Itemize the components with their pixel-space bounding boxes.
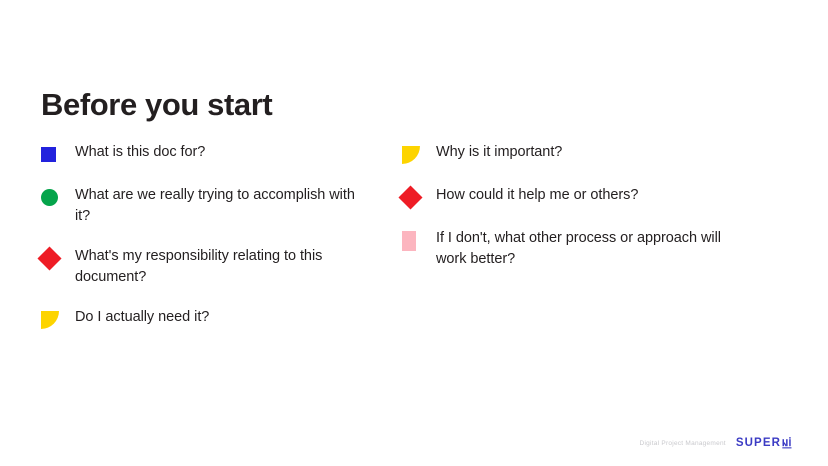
quarter-circle-yellow-icon — [41, 309, 75, 331]
list-item-label: What's my responsibility relating to thi… — [75, 246, 371, 288]
bullet-column-right: Why is it important? How could it help m… — [402, 142, 742, 289]
slide-canvas: Before you start What is this doc for? W… — [0, 0, 828, 466]
list-item: Do I actually need it? — [41, 307, 371, 331]
list-item-label: How could it help me or others? — [436, 185, 638, 206]
superhi-mark-icon — [782, 437, 795, 450]
footer-tagline: Digital Project Management — [640, 440, 726, 447]
bullet-column-left: What is this doc for? What are we really… — [41, 142, 371, 350]
list-item-label: What are we really trying to accomplish … — [75, 185, 371, 227]
list-item: How could it help me or others? — [402, 185, 742, 209]
superhi-logo: SUPER — [736, 437, 795, 449]
diamond-red-icon — [402, 187, 436, 209]
rect-pink-icon — [402, 230, 436, 252]
slide-footer: Digital Project Management SUPER — [640, 437, 795, 449]
diamond-red-icon — [41, 248, 75, 270]
list-item: What's my responsibility relating to thi… — [41, 246, 371, 288]
square-blue-icon — [41, 144, 75, 166]
list-item: What is this doc for? — [41, 142, 371, 166]
quarter-circle-yellow-icon — [402, 144, 436, 166]
list-item-label: Do I actually need it? — [75, 307, 209, 328]
list-item-label: If I don't, what other process or approa… — [436, 228, 742, 270]
logo-wordmark: SUPER — [736, 438, 781, 450]
list-item: What are we really trying to accomplish … — [41, 185, 371, 227]
list-item-label: Why is it important? — [436, 142, 562, 163]
list-item-label: What is this doc for? — [75, 142, 205, 163]
circle-green-icon — [41, 187, 75, 209]
list-item: If I don't, what other process or approa… — [402, 228, 742, 270]
page-title: Before you start — [41, 88, 272, 122]
list-item: Why is it important? — [402, 142, 742, 166]
